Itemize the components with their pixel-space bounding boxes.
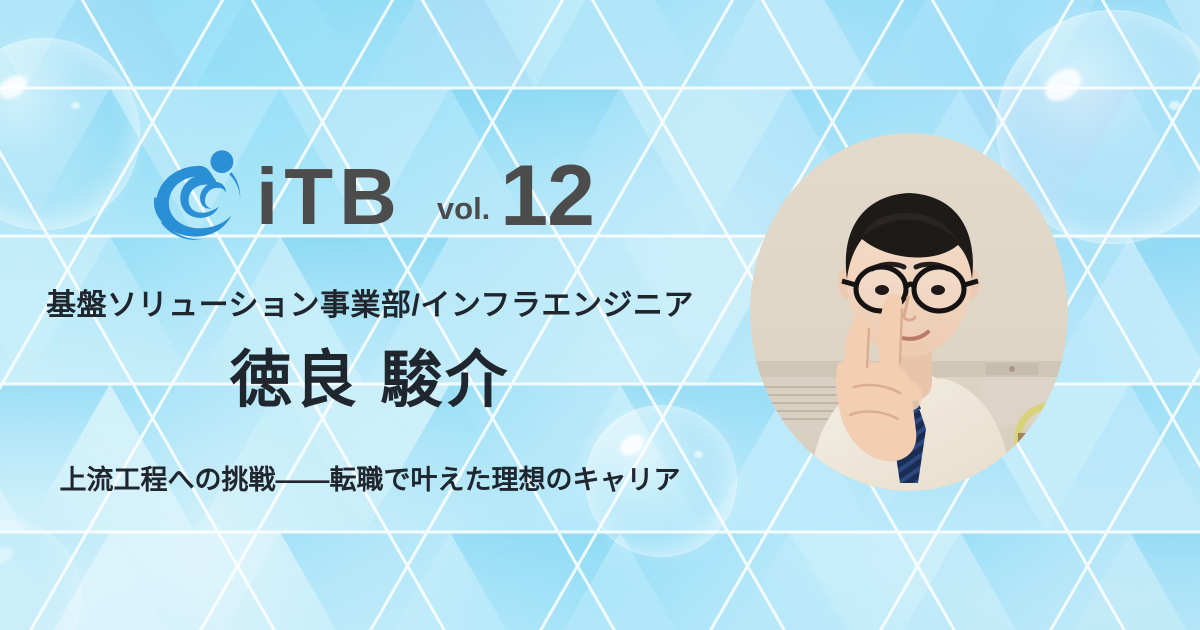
- banner-content: iTB vol. 12 基盤ソリューション事業部/インフラエンジニア 徳良 駿介…: [0, 0, 1200, 630]
- itb-swirl-logo-icon: [146, 143, 250, 247]
- portrait-photo: [750, 133, 1068, 491]
- volume-label: vol.: [437, 191, 490, 227]
- person-name: 徳良 駿介: [0, 348, 740, 413]
- department-and-role: 基盤ソリューション事業部/インフラエンジニア: [0, 280, 740, 324]
- interview-tagline: 上流工程への挑戦——転職で叶えた理想のキャリア: [0, 458, 740, 497]
- itb-wordmark: iTB: [256, 157, 403, 237]
- itb-interview-banner: iTB vol. 12 基盤ソリューション事業部/インフラエンジニア 徳良 駿介…: [0, 0, 1200, 630]
- volume-number: 12: [500, 153, 594, 239]
- brand-lockup: iTB vol. 12: [0, 143, 740, 247]
